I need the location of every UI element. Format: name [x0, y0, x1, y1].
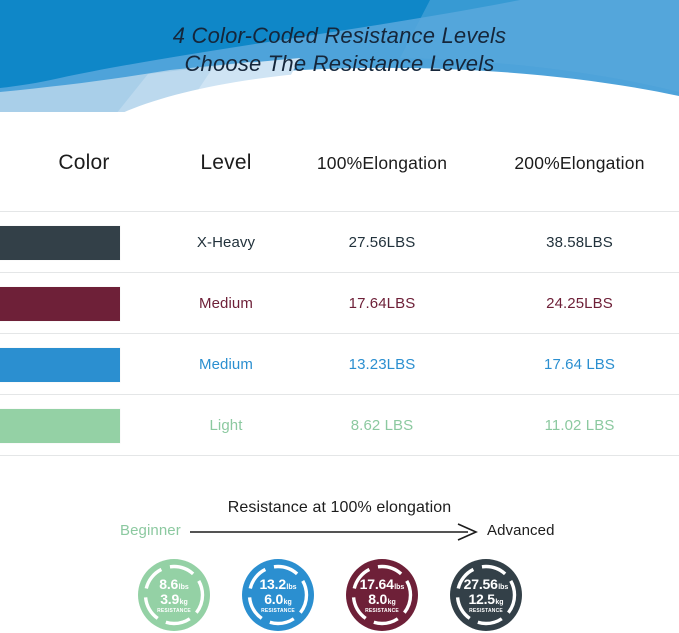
scale-label-advanced: Advanced: [487, 522, 555, 539]
badge-kg-unit: kg: [180, 599, 188, 606]
header-label-color: Color: [58, 151, 109, 175]
badge-kg-value: 6.0: [264, 592, 283, 606]
badge-lbs-value: 13.2: [259, 577, 285, 591]
row-elongation-200-cell: 11.02 LBS: [480, 417, 679, 434]
badge-lbs-value: 17.64: [360, 577, 394, 591]
badge-lbs-unit: lbs: [286, 584, 296, 591]
badge-content: 13.2 lbs 6.0 kg RESISTANCE: [242, 559, 314, 631]
badge-kg-unit: kg: [388, 599, 396, 606]
badge-lbs-line: 17.64 lbs: [360, 577, 405, 591]
elongation-200-value: 38.58LBS: [546, 234, 613, 251]
color-swatch: [0, 409, 120, 443]
header-cell-level: Level: [168, 151, 284, 175]
resistance-badge: 17.64 lbs 8.0 kg RESISTANCE: [346, 559, 418, 631]
table-header-row: Color Level 100%Elongation 200%Elongatio…: [0, 114, 679, 212]
badge-kg-line: 12.5 kg: [468, 592, 503, 606]
elongation-100-value: 13.23LBS: [349, 356, 416, 373]
color-swatch: [0, 348, 120, 382]
row-elongation-100-cell: 27.56LBS: [284, 234, 480, 251]
badge-content: 27.56 lbs 12.5 kg RESISTANCE: [450, 559, 522, 631]
resistance-badge: 8.6 lbs 3.9 kg RESISTANCE: [138, 559, 210, 631]
badge-lbs-value: 8.6: [159, 577, 178, 591]
header-banner: 4 Color-Coded Resistance Levels Choose T…: [0, 0, 679, 114]
header-label-elongation-100: 100%Elongation: [317, 153, 447, 174]
badge-content: 17.64 lbs 8.0 kg RESISTANCE: [346, 559, 418, 631]
row-elongation-200-cell: 24.25LBS: [480, 295, 679, 312]
badge-caption: RESISTANCE: [365, 608, 399, 614]
badge-lbs-unit: lbs: [394, 584, 404, 591]
resistance-badge: 27.56 lbs 12.5 kg RESISTANCE: [450, 559, 522, 631]
badge-kg-line: 8.0 kg: [368, 592, 396, 606]
resistance-scale-section: Resistance at 100% elongation Beginner A…: [0, 459, 679, 633]
badge-caption: RESISTANCE: [469, 608, 503, 614]
header-label-level: Level: [200, 151, 251, 175]
row-level-cell: Medium: [168, 356, 284, 373]
elongation-200-value: 24.25LBS: [546, 295, 613, 312]
badge-lbs-line: 8.6 lbs: [159, 577, 189, 591]
elongation-100-value: 17.64LBS: [349, 295, 416, 312]
row-level-cell: Medium: [168, 295, 284, 312]
badge-content: 8.6 lbs 3.9 kg RESISTANCE: [138, 559, 210, 631]
badge-lbs-value: 27.56: [464, 577, 498, 591]
banner-title-line2: Choose The Resistance Levels: [0, 50, 679, 78]
badge-kg-value: 12.5: [468, 592, 494, 606]
badge-lbs-line: 27.56 lbs: [464, 577, 509, 591]
header-label-elongation-200: 200%Elongation: [514, 153, 644, 174]
badge-lbs-unit: lbs: [498, 584, 508, 591]
table-row: Light 8.62 LBS 11.02 LBS: [0, 395, 679, 456]
row-level-cell: Light: [168, 417, 284, 434]
row-elongation-200-cell: 17.64 LBS: [480, 356, 679, 373]
badge-caption: RESISTANCE: [261, 608, 295, 614]
row-elongation-200-cell: 38.58LBS: [480, 234, 679, 251]
row-elongation-100-cell: 8.62 LBS: [284, 417, 480, 434]
level-value: Light: [209, 417, 242, 434]
row-divider: [0, 455, 679, 456]
badge-kg-unit: kg: [495, 599, 503, 606]
table-row: Medium 13.23LBS 17.64 LBS: [0, 334, 679, 395]
badge-caption: RESISTANCE: [157, 608, 191, 614]
color-swatch: [0, 226, 120, 260]
header-cell-elongation-100: 100%Elongation: [284, 153, 480, 174]
banner-title: 4 Color-Coded Resistance Levels Choose T…: [0, 22, 679, 78]
resistance-table: Color Level 100%Elongation 200%Elongatio…: [0, 114, 679, 456]
elongation-100-value: 8.62 LBS: [351, 417, 414, 434]
badge-kg-value: 8.0: [368, 592, 387, 606]
badge-kg-value: 3.9: [160, 592, 179, 606]
banner-title-line1: 4 Color-Coded Resistance Levels: [0, 22, 679, 50]
color-swatch: [0, 287, 120, 321]
badge-lbs-unit: lbs: [179, 584, 189, 591]
scale-caption: Resistance at 100% elongation: [0, 499, 679, 517]
level-value: Medium: [199, 295, 253, 312]
resistance-badge: 13.2 lbs 6.0 kg RESISTANCE: [242, 559, 314, 631]
header-cell-elongation-200: 200%Elongation: [480, 153, 679, 174]
level-value: X-Heavy: [197, 234, 255, 251]
row-elongation-100-cell: 13.23LBS: [284, 356, 480, 373]
badge-lbs-line: 13.2 lbs: [259, 577, 296, 591]
badge-row: 8.6 lbs 3.9 kg RESISTANCE 13.2 lbs: [0, 559, 679, 633]
row-level-cell: X-Heavy: [168, 234, 284, 251]
elongation-200-value: 11.02 LBS: [545, 417, 615, 434]
badge-kg-line: 6.0 kg: [264, 592, 292, 606]
level-value: Medium: [199, 356, 253, 373]
scale-label-beginner: Beginner: [120, 522, 181, 539]
elongation-200-value: 17.64 LBS: [544, 356, 615, 373]
badge-kg-line: 3.9 kg: [160, 592, 188, 606]
header-cell-color: Color: [0, 151, 168, 175]
badge-kg-unit: kg: [284, 599, 292, 606]
scale-arrow-icon: [190, 521, 485, 543]
elongation-100-value: 27.56LBS: [349, 234, 416, 251]
table-row: Medium 17.64LBS 24.25LBS: [0, 273, 679, 334]
table-row: X-Heavy 27.56LBS 38.58LBS: [0, 212, 679, 273]
row-elongation-100-cell: 17.64LBS: [284, 295, 480, 312]
